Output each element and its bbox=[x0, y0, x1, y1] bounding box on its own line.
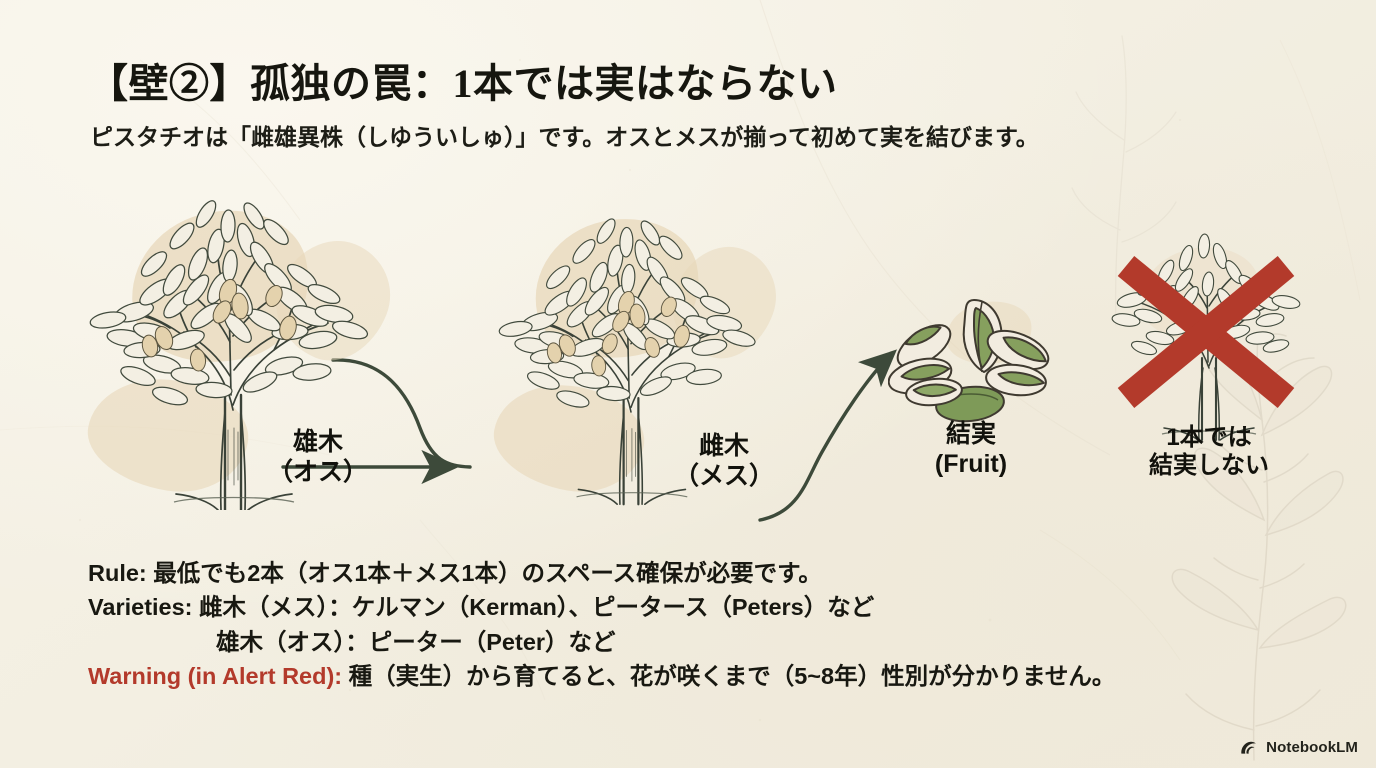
arrow-female-to-fruit bbox=[760, 354, 892, 520]
note-text: 雄木（オス）：ピーター（Peter）など bbox=[216, 629, 616, 655]
label-line-2: (Fruit) bbox=[886, 450, 1056, 480]
notebooklm-logo-icon bbox=[1240, 740, 1259, 756]
note-varieties-male: 雄木（オス）：ピーター（Peter）など bbox=[88, 625, 1288, 659]
note-text: 雌木（メス）：ケルマン（Kerman）、ピータース（Peters）など bbox=[193, 594, 875, 620]
crossed-tree-icon bbox=[1104, 228, 1314, 443]
note-text: 種（実生）から育てると、花が咲くまで（5~8年）性別が分かりません。 bbox=[342, 663, 1115, 689]
notes-block: Rule: 最低でも2本（オス1本＋メス1本）のスペース確保が必要です。 Var… bbox=[88, 556, 1288, 693]
note-label: Warning (in Alert Red): bbox=[88, 663, 342, 689]
label-female-tree: 雌木 （メス） bbox=[674, 432, 774, 491]
note-text: 最低でも2本（オス1本＋メス1本）のスペース確保が必要です。 bbox=[147, 560, 822, 586]
note-label: Varieties: bbox=[88, 594, 193, 620]
note-rule: Rule: 最低でも2本（オス1本＋メス1本）のスペース確保が必要です。 bbox=[88, 556, 1288, 590]
label-line-2: （メス） bbox=[674, 462, 774, 492]
node-male-tree: 雄木 （オス） bbox=[78, 180, 388, 510]
node-lone-tree: 1本では 結実しない bbox=[1104, 228, 1314, 508]
label-male-tree: 雄木 （オス） bbox=[268, 428, 368, 487]
note-label: Rule: bbox=[88, 560, 147, 586]
label-line-1: 雄木 bbox=[268, 428, 368, 458]
note-varieties: Varieties: 雌木（メス）：ケルマン（Kerman）、ピータース（Pet… bbox=[88, 590, 1288, 624]
label-line-2: （オス） bbox=[268, 458, 368, 488]
label-line-1: 1本では bbox=[1098, 424, 1320, 452]
notebooklm-watermark: NotebookLM bbox=[1240, 739, 1358, 756]
label-fruit: 結実 (Fruit) bbox=[886, 420, 1056, 479]
slide-canvas: 【壁②】孤独の罠：1本では実はならない ピスタチオは「雌雄異株（しゆういしゅ）」… bbox=[0, 0, 1376, 768]
node-fruit: 結実 (Fruit) bbox=[888, 288, 1058, 508]
pistachio-icon bbox=[888, 288, 1058, 428]
label-line-1: 雌木 bbox=[674, 432, 774, 462]
label-lone-tree: 1本では 結実しない bbox=[1098, 424, 1320, 481]
node-female-tree: 雌木 （メス） bbox=[488, 194, 774, 510]
diagram-stage: 雄木 （オス） bbox=[0, 180, 1376, 540]
note-warning: Warning (in Alert Red): 種（実生）から育てると、花が咲く… bbox=[88, 659, 1288, 693]
brand-name: NotebookLM bbox=[1266, 739, 1358, 756]
slide-subtitle: ピスタチオは「雌雄異株（しゆういしゅ）」です。オスとメスが揃って初めて実を結びま… bbox=[90, 124, 1039, 152]
label-line-1: 結実 bbox=[886, 420, 1056, 450]
slide-title: 【壁②】孤独の罠：1本では実はならない bbox=[88, 62, 838, 107]
label-line-2: 結実しない bbox=[1098, 452, 1320, 480]
